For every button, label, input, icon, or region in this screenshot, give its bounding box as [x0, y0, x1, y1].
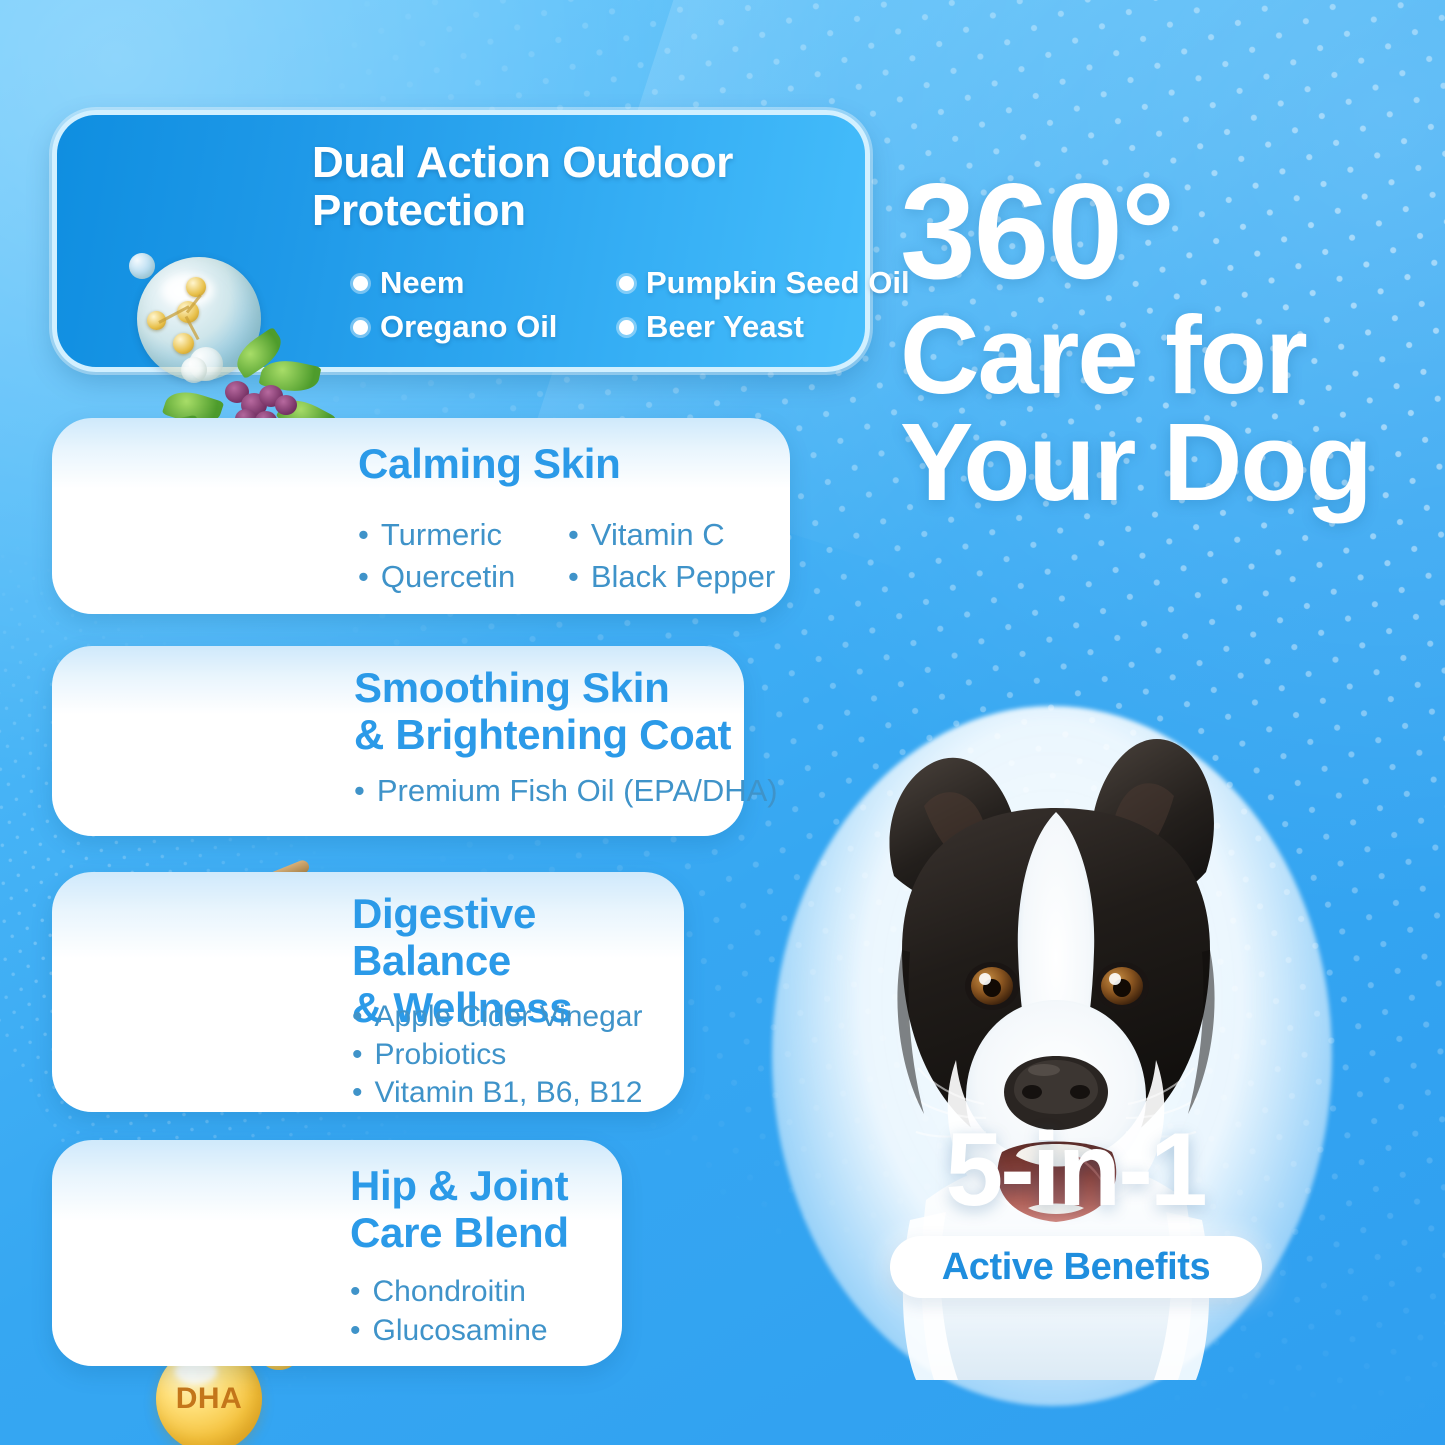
- bullet-dot-icon: [353, 320, 368, 335]
- dha-capsule-label: DHA: [176, 1382, 243, 1416]
- list-item: • Premium Fish Oil (EPA/DHA): [354, 770, 778, 812]
- ingredient-label: Glucosamine: [373, 1311, 548, 1350]
- bullet-dot-icon: •: [350, 1272, 361, 1311]
- headline-line-1: 360°: [900, 166, 1420, 297]
- ingredient-list: Neem Pumpkin Seed Oil Oregano Oil Beer Y…: [353, 261, 873, 349]
- headline-line-2: Care for: [900, 303, 1420, 409]
- bullet-dot-icon: •: [568, 514, 579, 556]
- bullet-dot-icon: [619, 320, 634, 335]
- ingredient-label: Neem: [380, 261, 464, 305]
- ingredient-label: Chondroitin: [373, 1272, 526, 1311]
- list-item: Oregano Oil: [353, 305, 613, 349]
- ingredient-label: Probiotics: [375, 1036, 507, 1074]
- card-title: Smoothing Skin & Brightening Coat: [354, 664, 731, 758]
- ingredient-label: Pumpkin Seed Oil: [646, 261, 910, 305]
- bullet-dot-icon: [619, 276, 634, 291]
- benefit-card-dual-action-outdoor-protection: Dual Action Outdoor Protection Neem Pump…: [52, 110, 870, 372]
- card-title-line1: Hip & Joint: [350, 1162, 568, 1209]
- ingredient-label: Black Pepper: [591, 556, 775, 598]
- ingredient-label: Vitamin C: [591, 514, 725, 556]
- list-item: • Turmeric: [358, 514, 568, 556]
- infographic-canvas: Dual Action Outdoor Protection Neem Pump…: [0, 0, 1445, 1445]
- ingredient-label: Quercetin: [381, 556, 515, 598]
- bullet-dot-icon: •: [350, 1311, 361, 1350]
- list-item: • Apple Cider Vinegar: [352, 998, 642, 1036]
- headline-line-3: Your Dog: [900, 410, 1420, 516]
- bullet-dot-icon: •: [358, 514, 369, 556]
- benefit-card-hip-joint-care-blend: Hip & Joint Care Blend • Chondroitin • G…: [52, 1140, 622, 1366]
- card-title-line2: Care Blend: [350, 1209, 569, 1256]
- list-item: Pumpkin Seed Oil: [613, 261, 873, 305]
- hero-headline: 360° Care for Your Dog: [900, 166, 1420, 516]
- card-title-line2: & Brightening Coat: [354, 711, 731, 758]
- bullet-dot-icon: •: [352, 1036, 363, 1074]
- bullet-dot-icon: •: [352, 998, 363, 1036]
- bullet-dot-icon: •: [358, 556, 369, 598]
- list-item: Neem: [353, 261, 613, 305]
- list-item: • Chondroitin: [350, 1272, 548, 1311]
- ingredient-label: Vitamin B1, B6, B12: [375, 1074, 643, 1112]
- ingredient-label: Premium Fish Oil (EPA/DHA): [377, 770, 778, 812]
- list-item: • Vitamin C: [568, 514, 778, 556]
- bullet-dot-icon: [353, 276, 368, 291]
- list-item: • Quercetin: [358, 556, 568, 598]
- ingredient-label: Turmeric: [381, 514, 502, 556]
- bullet-dot-icon: •: [354, 770, 365, 812]
- list-item: • Vitamin B1, B6, B12: [352, 1074, 642, 1112]
- list-item: • Glucosamine: [350, 1311, 548, 1350]
- list-item: • Probiotics: [352, 1036, 642, 1074]
- ingredient-list: • Turmeric • Vitamin C • Quercetin • Bla…: [358, 514, 778, 599]
- ingredient-label: Beer Yeast: [646, 305, 804, 349]
- ingredient-label: Oregano Oil: [380, 305, 557, 349]
- card-title: Calming Skin: [358, 440, 620, 487]
- ingredient-list: • Apple Cider Vinegar • Probiotics • Vit…: [352, 998, 642, 1111]
- benefit-card-digestive-balance-wellness: B6 Digestive Balance & Wellness • Apple …: [52, 872, 684, 1112]
- card-title: Dual Action Outdoor Protection: [312, 139, 857, 234]
- card-title-line1: Smoothing Skin: [354, 664, 669, 711]
- ingredient-list: • Chondroitin • Glucosamine: [350, 1272, 548, 1350]
- list-item: Beer Yeast: [613, 305, 873, 349]
- card-title-line1: Digestive Balance: [352, 890, 536, 984]
- card-title: Hip & Joint Care Blend: [350, 1162, 569, 1256]
- ingredient-label: Apple Cider Vinegar: [375, 998, 643, 1036]
- active-benefits-badge: Active Benefits: [890, 1236, 1262, 1298]
- bullet-dot-icon: •: [568, 556, 579, 598]
- benefit-card-smoothing-skin-brightening-coat: DHA Smoothing Skin & Brightening Coat • …: [52, 646, 744, 836]
- list-item: • Black Pepper: [568, 556, 778, 598]
- active-benefits-count: 5-in-1: [880, 1118, 1270, 1222]
- benefit-card-calming-skin: Calming Skin • Turmeric • Vitamin C • Qu…: [52, 418, 790, 614]
- active-benefits-label: Active Benefits: [942, 1246, 1211, 1289]
- ingredient-list: • Premium Fish Oil (EPA/DHA): [354, 770, 778, 812]
- bullet-dot-icon: •: [352, 1074, 363, 1112]
